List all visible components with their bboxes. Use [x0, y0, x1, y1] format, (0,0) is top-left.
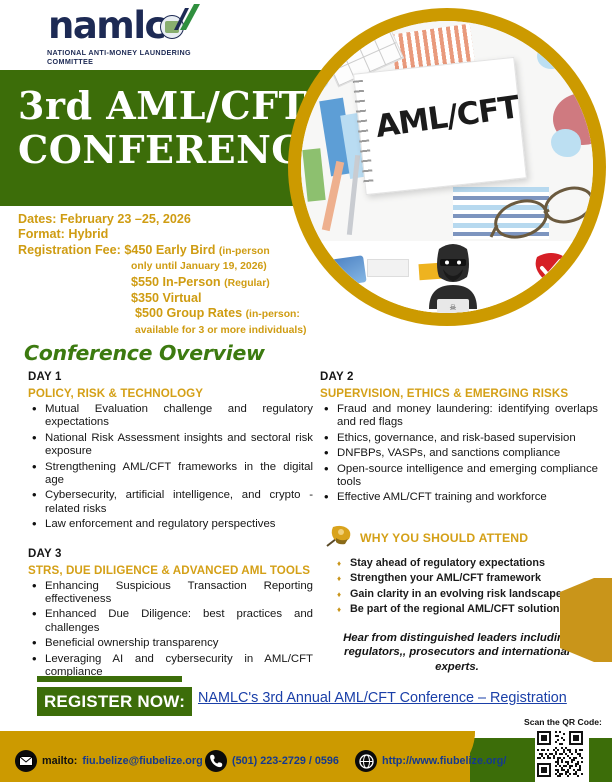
photo-bottom-strip: ☠: [301, 241, 593, 313]
fee-early-bird-note: (in-person: [219, 246, 270, 257]
register-now-button[interactable]: REGISTER NOW:: [37, 687, 192, 716]
day-items: Enhancing Suspicious Transaction Reporti…: [28, 580, 313, 680]
notebook-text: AML/CFT: [373, 89, 521, 145]
day-items: Fraud and money laundering: identifying …: [320, 403, 598, 505]
why-attend-section: WHY YOU SHOULD ATTEND Stay ahead of regu…: [320, 528, 600, 674]
day-topic: STRS, DUE DILIGENCE & ADVANCED AML TOOLS: [28, 563, 313, 578]
day-block-2: DAY 2 SUPERVISION, ETHICS & EMERGING RIS…: [320, 371, 598, 505]
paper-slip-graphic: [367, 259, 409, 277]
day-label: DAY 3: [28, 548, 313, 560]
paper-ball-icon: [301, 63, 329, 91]
list-item: Enhanced Due Diligence: best practices a…: [45, 608, 313, 635]
fee-early-bird-note2: only until January 19, 2026): [18, 259, 338, 274]
logo-wordmark: namlc: [48, 4, 165, 48]
why-attend-heading-row: WHY YOU SHOULD ATTEND: [320, 528, 600, 548]
event-details: Dates: February 23 –25, 2026 Format: Hyb…: [18, 212, 338, 338]
fee-in-person: $550 In-Person: [131, 275, 221, 289]
detail-fee-early: Registration Fee: $450 Early Bird (in-pe…: [18, 243, 338, 259]
detail-fee-inperson: $550 In-Person (Regular): [18, 275, 338, 291]
registration-link[interactable]: NAMLC's 3rd Annual AML/CFT Conference – …: [198, 690, 567, 706]
list-item: Open-source intelligence and emerging co…: [337, 463, 598, 490]
website-url[interactable]: http://www.fiubelize.org/: [382, 755, 506, 767]
day-items: Mutual Evaluation challenge and regulato…: [28, 403, 313, 532]
desk-scene: AML/CFT: [301, 21, 593, 313]
fee-group-note: (in-person:: [246, 309, 300, 320]
detail-format: Format: Hybrid: [18, 227, 338, 242]
list-item: Fraud and money laundering: identifying …: [337, 403, 598, 430]
qr-code[interactable]: [535, 729, 589, 782]
paper-ball-icon: [537, 45, 563, 69]
namlc-logo: namlc NATIONAL ANTI-MONEY LAUNDERING COM…: [38, 4, 228, 66]
red-check-badge-icon: [531, 249, 571, 287]
pushpin-icon: [324, 524, 354, 550]
day-label: DAY 2: [320, 371, 598, 383]
paper-ball-icon: [551, 129, 581, 157]
day-topic: POLICY, RISK & TECHNOLOGY: [28, 386, 313, 401]
flyer-page: namlc NATIONAL ANTI-MONEY LAUNDERING COM…: [0, 0, 612, 782]
email-prefix: mailto:: [42, 755, 77, 767]
list-item: Law enforcement and regulatory perspecti…: [45, 518, 313, 531]
speakers-note: Hear from distinguished leaders includin…: [320, 631, 600, 675]
day-block-1: DAY 1 POLICY, RISK & TECHNOLOGY Mutual E…: [28, 371, 313, 532]
eyeglasses-icon: [489, 173, 593, 247]
column-spacer: [28, 534, 313, 548]
globe-icon: [355, 750, 377, 772]
day-topic: SUPERVISION, ETHICS & EMERGING RISKS: [320, 386, 598, 401]
overview-column-right: DAY 2 SUPERVISION, ETHICS & EMERGING RIS…: [320, 371, 598, 507]
logo-subtitle: NATIONAL ANTI-MONEY LAUNDERING COMMITTEE: [47, 48, 228, 66]
hacker-avatar-icon: ☠: [423, 243, 483, 313]
list-item: National Risk Assessment insights and se…: [45, 432, 313, 459]
fee-in-person-note: (Regular): [224, 278, 270, 289]
why-attend-items: Stay ahead of regulatory expectations St…: [320, 556, 600, 618]
detail-fee-group: $500 Group Rates (in-person:: [18, 306, 338, 322]
why-attend-heading: WHY YOU SHOULD ATTEND: [360, 531, 528, 545]
list-item: Beneficial ownership transparency: [45, 637, 313, 650]
list-item: Strengthening AML/CFT frameworks in the …: [45, 461, 313, 488]
green-bar-graphic: [302, 148, 325, 202]
footer-email[interactable]: mailto:fiu.belize@fiubelize.org: [15, 750, 203, 772]
list-item: Stay ahead of regulatory expectations: [350, 556, 600, 571]
title-line-2: CONFERENCE: [18, 127, 332, 172]
list-item: Cybersecurity, artificial intelligence, …: [45, 489, 313, 516]
footer-phone[interactable]: (501) 223-2729 / 0596: [205, 750, 339, 772]
fee-label: Registration Fee:: [18, 243, 121, 257]
phone-number[interactable]: (501) 223-2729 / 0596: [232, 755, 339, 767]
day-label: DAY 1: [28, 371, 313, 383]
overview-column-left: DAY 1 POLICY, RISK & TECHNOLOGY Mutual E…: [28, 371, 313, 682]
fee-early-bird: $450 Early Bird: [124, 243, 215, 257]
footer-website[interactable]: http://www.fiubelize.org/: [355, 750, 506, 772]
detail-dates: Dates: February 23 –25, 2026: [18, 212, 338, 227]
phone-icon: [205, 750, 227, 772]
list-item: Ethics, governance, and risk-based super…: [337, 432, 598, 445]
fee-virtual: $350 Virtual: [18, 291, 338, 306]
email-icon: [15, 750, 37, 772]
hero-photo: AML/CFT: [301, 21, 593, 313]
qr-label: Scan the QR Code:: [524, 717, 602, 727]
list-item: DNFBPs, VASPs, and sanctions compliance: [337, 447, 598, 460]
day-block-3: DAY 3 STRS, DUE DILIGENCE & ADVANCED AML…: [28, 548, 313, 680]
fee-group-note2: available for 3 or more individuals): [18, 323, 338, 338]
overview-heading: Conference Overview: [24, 341, 265, 365]
title-line-1: 3rd AML/CFT: [18, 83, 307, 128]
email-address[interactable]: fiu.belize@fiubelize.org: [82, 755, 202, 767]
list-item: Effective AML/CFT training and workforce: [337, 491, 598, 504]
list-item: Strengthen your AML/CFT framework: [350, 571, 600, 586]
divider-rule: [37, 676, 182, 682]
list-item: Enhancing Suspicious Transaction Reporti…: [45, 580, 313, 607]
logo-swoosh-icon: [174, 2, 200, 32]
gold-arrow-decoration: [560, 578, 612, 662]
list-item: Mutual Evaluation challenge and regulato…: [45, 403, 313, 430]
svg-text:☠: ☠: [449, 303, 456, 312]
logo-mark: namlc: [38, 4, 228, 48]
fee-group: $500 Group Rates: [135, 306, 242, 320]
